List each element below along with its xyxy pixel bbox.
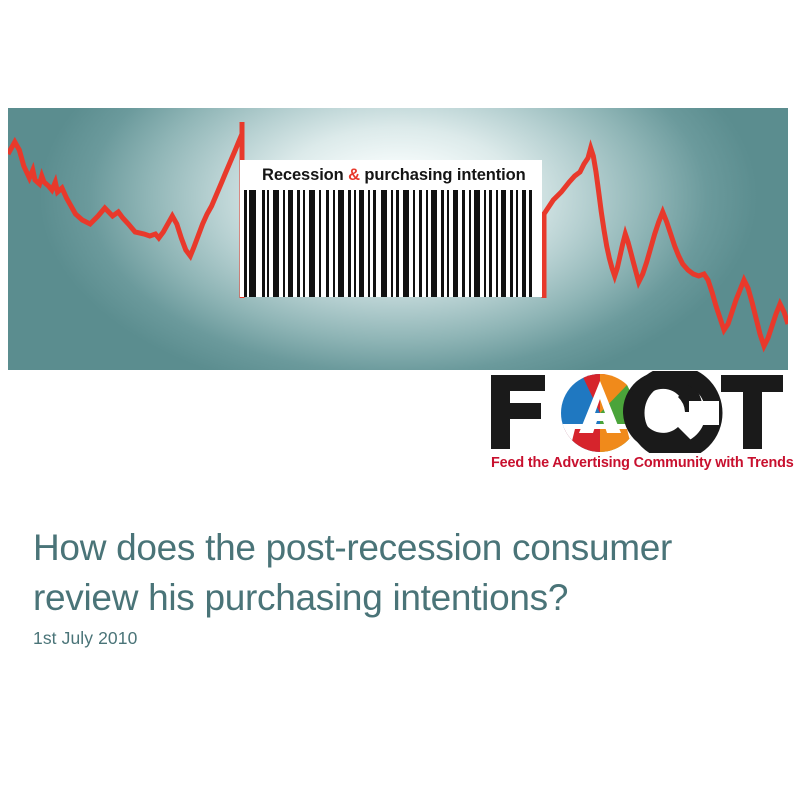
barcode-bar [368,187,370,297]
fact-letter-t [721,375,783,449]
barcode-bar [303,187,305,297]
barcode-title-suffix: purchasing intention [360,166,526,184]
barcode-title-prefix: Recession [262,166,348,184]
barcode-bar [381,187,387,297]
barcode-bar [391,187,393,297]
barcode-bar [283,187,285,297]
barcode-bar [413,187,415,297]
barcode-bar [319,187,321,297]
barcode-bar [338,187,344,297]
barcode-bar [348,187,351,297]
barcode-bar [262,187,265,297]
barcode-bar [484,187,486,297]
barcode-title-text: Recession & purchasing intention [262,166,526,184]
barcode-bar [453,187,458,297]
page-title-line-1: How does the post-recession consumer [33,523,763,573]
barcode-bar [469,187,471,297]
recession-banner: Recession & purchasing intention [8,108,788,370]
barcode-bar [326,187,329,297]
barcode-bar [396,187,399,297]
barcode-bar [273,187,279,297]
barcode-bar [489,187,492,297]
trend-line-left [8,134,242,256]
barcode-bar [359,187,364,297]
barcode-bar [403,187,409,297]
fact-tagline: Feed the Advertising Community with Tren… [491,455,791,471]
fact-letter-f [491,375,545,449]
barcode-bars [240,187,542,297]
trend-line-right [544,148,788,346]
barcode-bar [419,187,422,297]
barcode-label: Recession & purchasing intention [240,160,542,297]
barcode-title-strip: Recession & purchasing intention [240,160,542,190]
barcode-bar [496,187,498,297]
barcode-bar [516,187,518,297]
page-title: How does the post-recession consumer rev… [33,523,763,623]
barcode-bar [297,187,300,297]
barcode-bar [426,187,428,297]
barcode-bar [431,187,437,297]
fact-logo: Feed the Advertising Community with Tren… [489,371,789,481]
barcode-bar [501,187,506,297]
barcode-bar [267,187,269,297]
fact-letter-c-mouth [689,401,719,425]
barcode-bar [474,187,480,297]
barcode-bar [309,187,315,297]
barcode-bar [510,187,513,297]
barcode-bar [288,187,293,297]
slide-canvas: Recession & purchasing intention [0,0,800,800]
presentation-date: 1st July 2010 [33,628,137,649]
page-title-line-2: review his purchasing intentions? [33,573,763,623]
barcode-bar [441,187,444,297]
barcode-bar [447,187,449,297]
barcode-title-ampersand: & [348,166,360,184]
barcode-bar [373,187,376,297]
fact-wordmark [489,371,789,453]
barcode-bar [354,187,356,297]
barcode-bar [333,187,335,297]
barcode-bar [462,187,465,297]
